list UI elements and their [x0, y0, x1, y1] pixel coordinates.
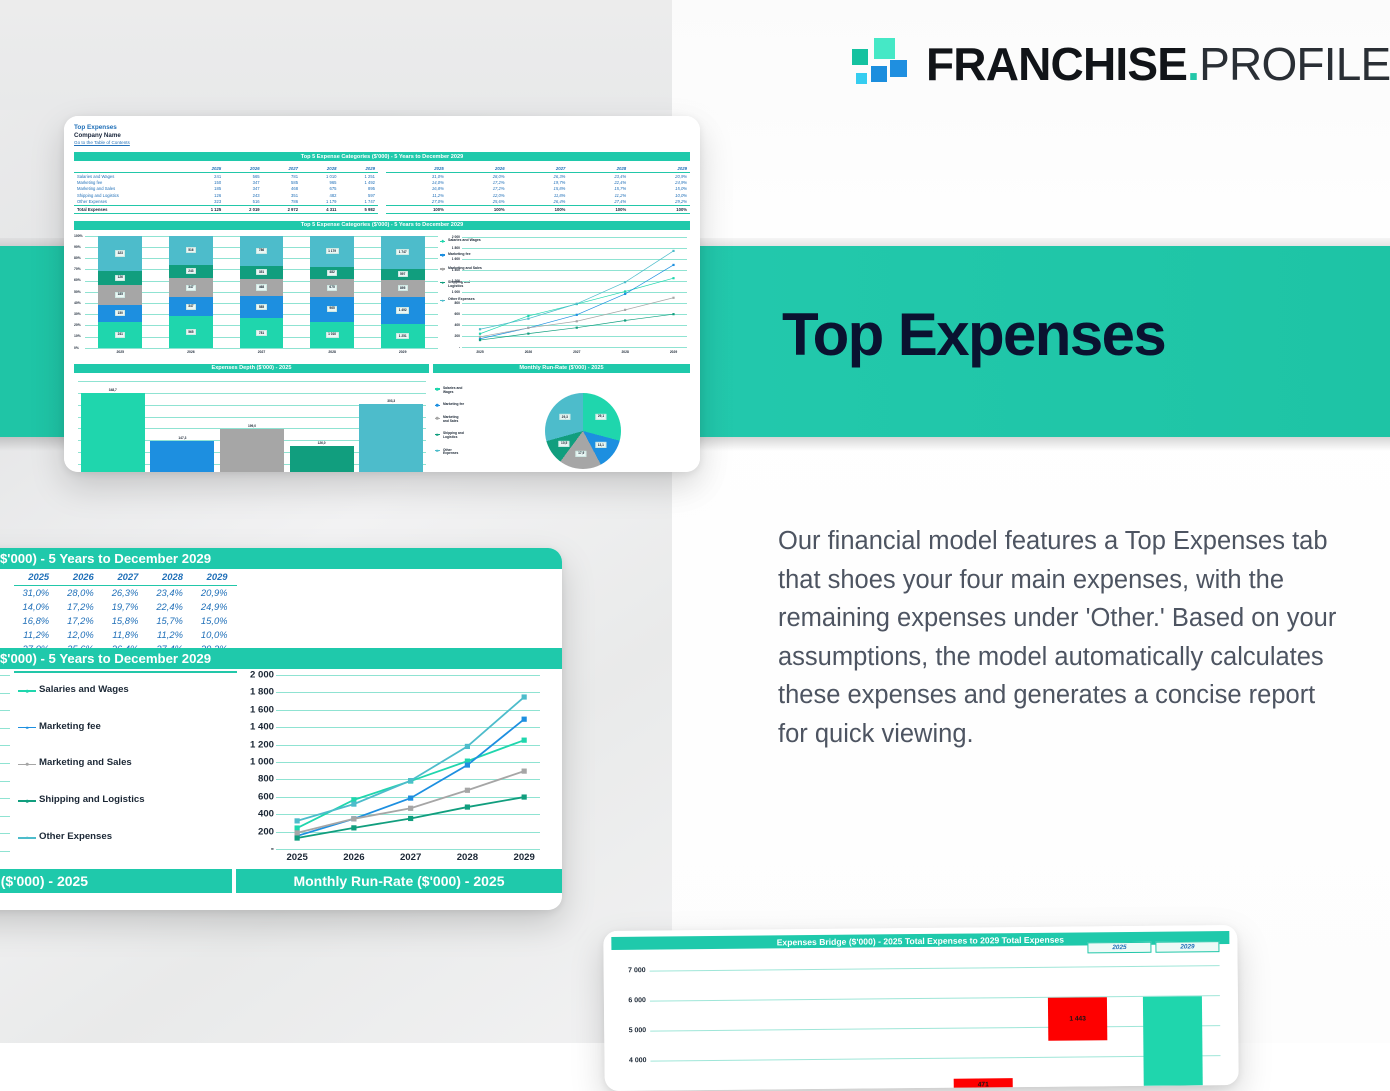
expense-percent-table: 2025 2026 2027 2028 2029 31,0% 28,0% 26,… — [386, 165, 690, 214]
gridline — [0, 763, 10, 764]
stack-segment: 241 — [98, 322, 142, 348]
y-axis-tick: 80% — [74, 256, 81, 260]
x-axis-tick: 2025 — [117, 350, 125, 354]
cell: 25,6% — [447, 199, 508, 206]
legend-label: Marketing fee — [39, 722, 101, 733]
y-axis-tick: 4 000 — [629, 1057, 651, 1064]
col-year: 2029 — [629, 165, 690, 173]
col-year: 2028 — [301, 165, 339, 173]
cell: 27,4% — [568, 199, 629, 206]
bar[interactable] — [150, 441, 214, 472]
banner-expenses-depth: Expenses Depth ($'000) - 2025 — [74, 364, 429, 373]
chart-stacked-zoom[interactable]: 78635146858578120271 1794826759651 01020… — [0, 669, 232, 869]
row-label: Other Expenses — [74, 199, 186, 206]
data-label: 675 — [327, 285, 337, 291]
row-label: Salaries and Wages — [74, 173, 186, 180]
data-label: 786 — [256, 248, 266, 254]
stacked-column[interactable]: 1 7475978951 4921 251 — [381, 236, 425, 348]
stack-segment: 565 — [169, 316, 213, 347]
stack-segment: 781 — [240, 318, 284, 347]
col-year: 2026 — [58, 569, 103, 586]
cell: 19,7% — [103, 600, 148, 614]
data-label: 516 — [186, 247, 196, 253]
data-label: 468 — [256, 284, 266, 290]
x-axis-tick: 2029 — [670, 350, 677, 354]
data-label: 10,5 — [559, 441, 570, 447]
data-label: 348,7 — [109, 388, 117, 392]
cell: 4 311 — [301, 205, 339, 213]
gridline — [0, 816, 10, 817]
legend-marker — [18, 837, 36, 838]
table-row: 31,0% 28,0% 26,3% 23,4% 20,9% — [14, 586, 237, 600]
logo-square-5 — [890, 60, 907, 77]
cell: 17,2% — [58, 614, 103, 628]
chart-lines-top[interactable]: -2004006008001 0001 2001 4001 6001 8002 … — [446, 233, 690, 355]
pie-slices[interactable] — [545, 393, 621, 469]
chart-legend: Salaries and WagesMarketing feeMarketing… — [18, 685, 232, 843]
data-label: 471 — [978, 1082, 989, 1089]
data-label: 1 492 — [396, 307, 409, 313]
cell: 12,0% — [58, 627, 103, 641]
legend-item: Shipping and Logistics — [18, 795, 232, 806]
legend-label: Other Expenses — [443, 449, 465, 456]
cell: 100% — [386, 205, 447, 213]
col-year: 2027 — [508, 165, 569, 173]
legend-marker — [435, 388, 440, 389]
table-total-row: Total Expenses 1 125 2 019 2 972 4 311 5… — [74, 205, 378, 213]
cell: 31,0% — [14, 586, 59, 600]
stack-segment: 185 — [98, 285, 142, 305]
y-axis-tick: 90% — [74, 245, 81, 249]
data-label: 126,0 — [318, 441, 326, 445]
col-year: 2028 — [147, 569, 192, 586]
waterfall-delta-bar[interactable]: 1 443 — [1048, 997, 1107, 1041]
gridline — [0, 675, 10, 676]
data-label: 185 — [115, 292, 125, 298]
stack-segment: 585 — [240, 296, 284, 318]
sheet-title: Top Expenses — [74, 124, 690, 132]
table-row: Salaries and Wages 241 565 781 1 010 1 2… — [74, 173, 378, 180]
cell: 23,4% — [147, 586, 192, 600]
y-axis-tick: 70% — [74, 267, 81, 271]
cell: 1 251 — [339, 173, 378, 180]
legend-label: Salaries and Wages — [443, 387, 465, 394]
gridline — [650, 995, 1220, 1001]
stack-segment: 516 — [169, 236, 213, 265]
legend-label: Marketing fee — [443, 403, 464, 407]
gridline — [650, 965, 1220, 971]
stack-segment: 468 — [240, 279, 284, 297]
cell: 11,2% — [147, 627, 192, 641]
data-label: 565 — [186, 329, 196, 335]
data-label: 597 — [398, 271, 408, 277]
stack-segment: 1 179 — [310, 236, 354, 267]
cell: 10,0% — [192, 627, 237, 641]
data-label: 482 — [327, 270, 337, 276]
gridline — [0, 693, 10, 694]
cell: 24,9% — [192, 600, 237, 614]
gridline — [78, 381, 426, 382]
screenshot-card-expenses-bridge[interactable]: Expenses Bridge ($'000) - 2025 Total Exp… — [603, 925, 1239, 1091]
col-year: 2028 — [568, 165, 629, 173]
stack-segment: 965 — [310, 297, 354, 322]
cell: 100% — [508, 205, 569, 213]
x-axis-tick: 2027 — [258, 350, 266, 354]
stack-segment: 597 — [381, 269, 425, 280]
stack-segment: 1 251 — [381, 324, 425, 347]
legend-item: Other Expenses — [435, 449, 465, 456]
data-label: 351 — [256, 269, 266, 275]
waterfall-delta-bar[interactable]: 471 — [954, 1078, 1013, 1091]
brand-name-bold: FRANCHISE — [926, 38, 1187, 90]
data-label: 29,1 — [595, 414, 606, 420]
legend-marker — [440, 254, 445, 255]
page-title: Top Expenses — [782, 300, 1165, 369]
data-label: 347 — [186, 285, 196, 291]
expense-values-table: 2025 2026 2027 2028 2029 Salaries and Wa… — [74, 165, 378, 214]
stack-segment: 323 — [98, 236, 142, 271]
gridline — [0, 745, 10, 746]
banner-expense-categories-chart-zoom: Top 5 Expense Categories ($'000) - 5 Yea… — [0, 648, 562, 669]
stack-segment: 243 — [169, 265, 213, 278]
y-axis-tick: 40% — [74, 301, 81, 305]
legend-marker — [18, 764, 36, 765]
gridline — [85, 348, 438, 349]
stack-segment: 1 492 — [381, 297, 425, 325]
col-year: 2029 — [339, 165, 378, 173]
cell: 241 — [186, 173, 224, 180]
table-row: 11,2% 12,0% 11,8% 11,2% 10,0% — [14, 627, 237, 641]
cell: 28,0% — [58, 586, 103, 600]
footer-banners: ses Depth ($'000) - 2025 Monthly Run-Rat… — [0, 869, 562, 893]
waterfall-total-bar[interactable] — [1143, 996, 1203, 1086]
stack-segment: 1 010 — [310, 322, 354, 348]
col-year: 2027 — [263, 165, 301, 173]
table-row: 27,0% 25,6% 26,4% 27,4% 29,2% — [386, 199, 690, 206]
chart-expenses-depth[interactable]: 348,7147,3199,0126,0303,3 — [74, 373, 429, 472]
legend-item: Other Expenses — [18, 832, 232, 843]
x-axis-tick: 2025 — [286, 852, 307, 863]
brand-dot: . — [1187, 38, 1199, 90]
stack-segment: 347 — [169, 278, 213, 297]
banner-monthly-run-rate: Monthly Run-Rate ($'000) - 2025 — [433, 364, 690, 373]
spreadsheet-surface: Top Expenses Company Name Go to the Tabl… — [64, 116, 700, 472]
banner-expense-categories-chart: Top 5 Expense Categories ($'000) - 5 Yea… — [74, 221, 690, 230]
key-2025: 2025 — [1087, 942, 1151, 954]
legend-marker — [435, 418, 440, 419]
cell: 100% — [447, 205, 508, 213]
cell: 11,2% — [14, 627, 59, 641]
legend-item: Salaries and Wages — [435, 387, 465, 394]
y-axis-tick: 0% — [74, 346, 79, 350]
legend-marker — [435, 434, 440, 435]
cell: 26,3% — [508, 173, 569, 180]
x-axis-tick: 2028 — [457, 852, 478, 863]
logo-square-4 — [871, 66, 887, 82]
col-year: 2026 — [447, 165, 508, 173]
chart-legend: Salaries and WagesMarketing feeMarketing… — [435, 387, 465, 456]
y-axis-tick: 30% — [74, 312, 81, 316]
legend-marker — [440, 241, 445, 242]
logo-square-3 — [856, 73, 867, 84]
zoom-tables: 2026 2027 2028 2029 565 781 1 010 1 251 … — [0, 569, 562, 649]
legend-marker — [18, 727, 36, 728]
data-label: 1 179 — [326, 248, 339, 254]
data-label: 965 — [327, 306, 337, 312]
col-year: 2027 — [103, 569, 148, 586]
spreadsheet-surface-zoom: Top 5 Expense Categories ($'000) - 5 Yea… — [0, 548, 562, 910]
cell: 516 — [224, 199, 262, 206]
x-axis-tick: 2027 — [573, 350, 580, 354]
row-label: Total Expenses — [74, 205, 186, 213]
legend-marker — [18, 800, 36, 801]
stacked-column[interactable]: 323126185150241 — [98, 236, 142, 348]
cell: 15,0% — [192, 614, 237, 628]
cell: 100% — [568, 205, 629, 213]
gridline — [650, 1055, 1220, 1061]
logo-squares-icon — [852, 38, 904, 90]
x-axis-tick: 2026 — [343, 852, 364, 863]
bar[interactable] — [81, 393, 145, 472]
data-label: 147,3 — [178, 436, 186, 440]
col-year: 2029 — [192, 569, 237, 586]
data-label: 150 — [115, 310, 125, 316]
cell: 5 982 — [339, 205, 378, 213]
x-axis-tick: 2029 — [399, 350, 407, 354]
logo-square-2 — [874, 38, 895, 59]
cell: 16,8% — [14, 614, 59, 628]
col-year: 2025 — [386, 165, 447, 173]
cell: 565 — [224, 173, 262, 180]
data-label: 13,1 — [595, 442, 606, 448]
page-description: Our financial model features a Top Expen… — [778, 522, 1338, 753]
data-label: 199,0 — [248, 424, 256, 428]
col-year: 2025 — [186, 165, 224, 173]
cell: 29,2% — [629, 199, 690, 206]
x-axis-tick: 2026 — [525, 350, 532, 354]
data-label: 1 747 — [396, 249, 409, 255]
table-of-contents-link[interactable]: Go to the Table of Contents — [74, 140, 130, 145]
cell: 20,9% — [192, 586, 237, 600]
legend-item: Salaries and Wages — [18, 685, 232, 696]
chart-monthly-run-rate-pie[interactable]: 29,113,117,910,529,3Salaries and WagesMa… — [433, 373, 690, 472]
gridline — [0, 798, 10, 799]
cell: 26,4% — [508, 199, 569, 206]
gridline — [650, 1025, 1220, 1031]
cell: 781 — [263, 173, 301, 180]
x-axis-tick: 2028 — [621, 350, 628, 354]
stack-segment: 786 — [240, 236, 284, 266]
cell: 786 — [263, 199, 301, 206]
stack-segment: 675 — [310, 279, 354, 297]
y-axis-tick: 7 000 — [628, 967, 650, 974]
bridge-year-key: 2025 2029 — [1087, 941, 1219, 953]
chart-lines-zoom[interactable]: -2004006008001 0001 2001 4001 6001 8002 … — [236, 669, 548, 869]
cell: 28,0% — [447, 173, 508, 180]
cell: 14,0% — [14, 600, 59, 614]
table-row: 31,0% 28,0% 26,3% 23,4% 20,9% — [386, 173, 690, 180]
cell: 23,4% — [568, 173, 629, 180]
data-label: 241 — [115, 332, 125, 338]
legend-item: Marketing and Sales — [435, 416, 465, 423]
top-strip-background — [0, 0, 672, 110]
cell: 1 010 — [301, 173, 339, 180]
table-row: 16,8% 17,2% 15,8% 15,7% 15,0% — [14, 614, 237, 628]
table-header-row: 2025 2026 2027 2028 2029 — [386, 165, 690, 173]
cell: 15,8% — [103, 614, 148, 628]
stack-segment: 150 — [98, 305, 142, 321]
table-row: Other Expenses 323 516 786 1 179 1 747 — [74, 199, 378, 206]
legend-item: Shipping and Logistics — [435, 432, 465, 439]
logo-square-1 — [852, 49, 868, 65]
cell: 22,4% — [147, 600, 192, 614]
cell: 11,8% — [103, 627, 148, 641]
gridline — [0, 781, 10, 782]
key-2029: 2029 — [1155, 941, 1219, 953]
legend-label: Marketing and Sales — [39, 758, 132, 769]
legend-label: Shipping and Logistics — [39, 795, 145, 806]
data-label: 243 — [186, 268, 196, 274]
legend-marker — [18, 690, 36, 691]
x-axis-tick: 2025 — [476, 350, 483, 354]
legend-item: Marketing fee — [18, 722, 232, 733]
legend-label: Shipping and Logistics — [443, 432, 465, 439]
data-label: 17,9 — [576, 451, 587, 457]
stack-segment: 347 — [169, 297, 213, 316]
y-axis-tick: 20% — [74, 323, 81, 327]
stacked-column[interactable]: 516243347347565 — [169, 236, 213, 348]
x-axis-tick: 2026 — [187, 350, 195, 354]
data-label: 781 — [256, 330, 266, 336]
line-series-layer — [446, 233, 690, 355]
data-label: 29,3 — [559, 414, 570, 420]
cell: 20,9% — [629, 173, 690, 180]
y-axis-tick: 100% — [74, 234, 83, 238]
table-row: 14,0% 17,2% 19,7% 22,4% 24,9% — [14, 600, 237, 614]
cell: 17,2% — [58, 600, 103, 614]
stack-segment: 482 — [310, 267, 354, 280]
data-label: 1 251 — [396, 333, 409, 339]
stacked-column[interactable]: 1 1794826759651 010 — [310, 236, 354, 348]
data-label: 303,3 — [387, 399, 395, 403]
gridline — [0, 833, 10, 834]
brand-name-light: PROFILES — [1199, 38, 1390, 90]
data-label: 585 — [256, 304, 266, 310]
banner-expense-categories-table-zoom: Top 5 Expense Categories ($'000) - 5 Yea… — [0, 548, 562, 569]
table-header-row: 2025 2026 2027 2028 2029 — [14, 569, 237, 586]
spreadsheet-surface-bridge: Expenses Bridge ($'000) - 2025 Total Exp… — [603, 925, 1239, 1091]
legend-marker — [435, 405, 440, 406]
bar[interactable] — [220, 429, 284, 472]
legend-label: Marketing and Sales — [443, 416, 465, 423]
bar[interactable] — [290, 446, 354, 472]
legend-marker — [435, 450, 440, 451]
x-axis-tick: 2027 — [400, 852, 421, 863]
y-axis-tick: 6 000 — [628, 997, 650, 1004]
line-series-layer — [236, 669, 548, 869]
screenshot-card-expense-categories-zoom[interactable]: Top 5 Expense Categories ($'000) - 5 Yea… — [0, 548, 562, 910]
legend-marker — [440, 282, 445, 283]
col-year: 2026 — [224, 165, 262, 173]
legend-item: Marketing fee — [435, 403, 465, 407]
data-label: 895 — [398, 285, 408, 291]
stack-segment: 1 747 — [381, 236, 425, 269]
x-axis-tick: 2028 — [328, 350, 336, 354]
waterfall-plot: 4 0005 0006 0007 0001 0107064711 443 — [650, 953, 1221, 1090]
stack-segment: 895 — [381, 280, 425, 297]
data-label: 1 443 — [1069, 1015, 1086, 1022]
brand-logo: FRANCHISE.PROFILES — [852, 38, 1390, 90]
data-label: 1 010 — [326, 332, 339, 338]
stack-segment: 351 — [240, 266, 284, 279]
y-axis-tick: 5 000 — [629, 1027, 651, 1034]
gridline — [0, 728, 10, 729]
sheet-subtitle: Company Name — [74, 132, 690, 139]
col-year: 2025 — [14, 569, 59, 586]
data-label: 347 — [186, 304, 196, 310]
legend-marker — [440, 268, 445, 269]
gridline — [0, 851, 10, 852]
cell: 15,7% — [147, 614, 192, 628]
legend-item: Marketing and Sales — [18, 758, 232, 769]
legend-label: Salaries and Wages — [39, 685, 129, 696]
cell: 1 179 — [301, 199, 339, 206]
cell: 26,3% — [103, 586, 148, 600]
brand-wordmark: FRANCHISE.PROFILES — [926, 41, 1390, 87]
y-axis-tick: 10% — [74, 334, 81, 338]
footer-banner-run-rate: Monthly Run-Rate ($'000) - 2025 — [236, 869, 562, 893]
y-axis-tick: 60% — [74, 278, 81, 282]
cell: 100% — [629, 205, 690, 213]
cell: 27,0% — [386, 199, 447, 206]
legend-label: Other Expenses — [39, 832, 112, 843]
table-total-row: 100% 100% 100% 100% 100% — [386, 205, 690, 213]
banner-expense-categories-table: Top 5 Expense Categories ($'000) - 5 Yea… — [74, 152, 690, 161]
table-header-row: 2025 2026 2027 2028 2029 — [74, 165, 378, 173]
legend-marker — [440, 300, 445, 301]
bar[interactable] — [359, 404, 423, 472]
x-axis-tick: 2029 — [513, 852, 534, 863]
chart-stacked-100pct[interactable]: 100%90%80%70%60%50%40%30%20%10%0%3231261… — [74, 233, 440, 355]
stacked-column[interactable]: 786351468585781 — [240, 236, 284, 348]
y-axis-tick: 50% — [74, 290, 81, 294]
cell: 2 972 — [263, 205, 301, 213]
cell: 1 747 — [339, 199, 378, 206]
screenshot-card-top-expenses-sheet[interactable]: Top Expenses Company Name Go to the Tabl… — [64, 116, 700, 472]
gridline — [0, 710, 10, 711]
cell: 31,0% — [386, 173, 447, 180]
cell: 323 — [186, 199, 224, 206]
stack-segment: 126 — [98, 271, 142, 285]
cell: 1 125 — [186, 205, 224, 213]
cell: 2 019 — [224, 205, 262, 213]
footer-banner-depth: ses Depth ($'000) - 2025 — [0, 869, 232, 893]
data-label: 323 — [115, 250, 125, 256]
data-label: 126 — [115, 275, 125, 281]
